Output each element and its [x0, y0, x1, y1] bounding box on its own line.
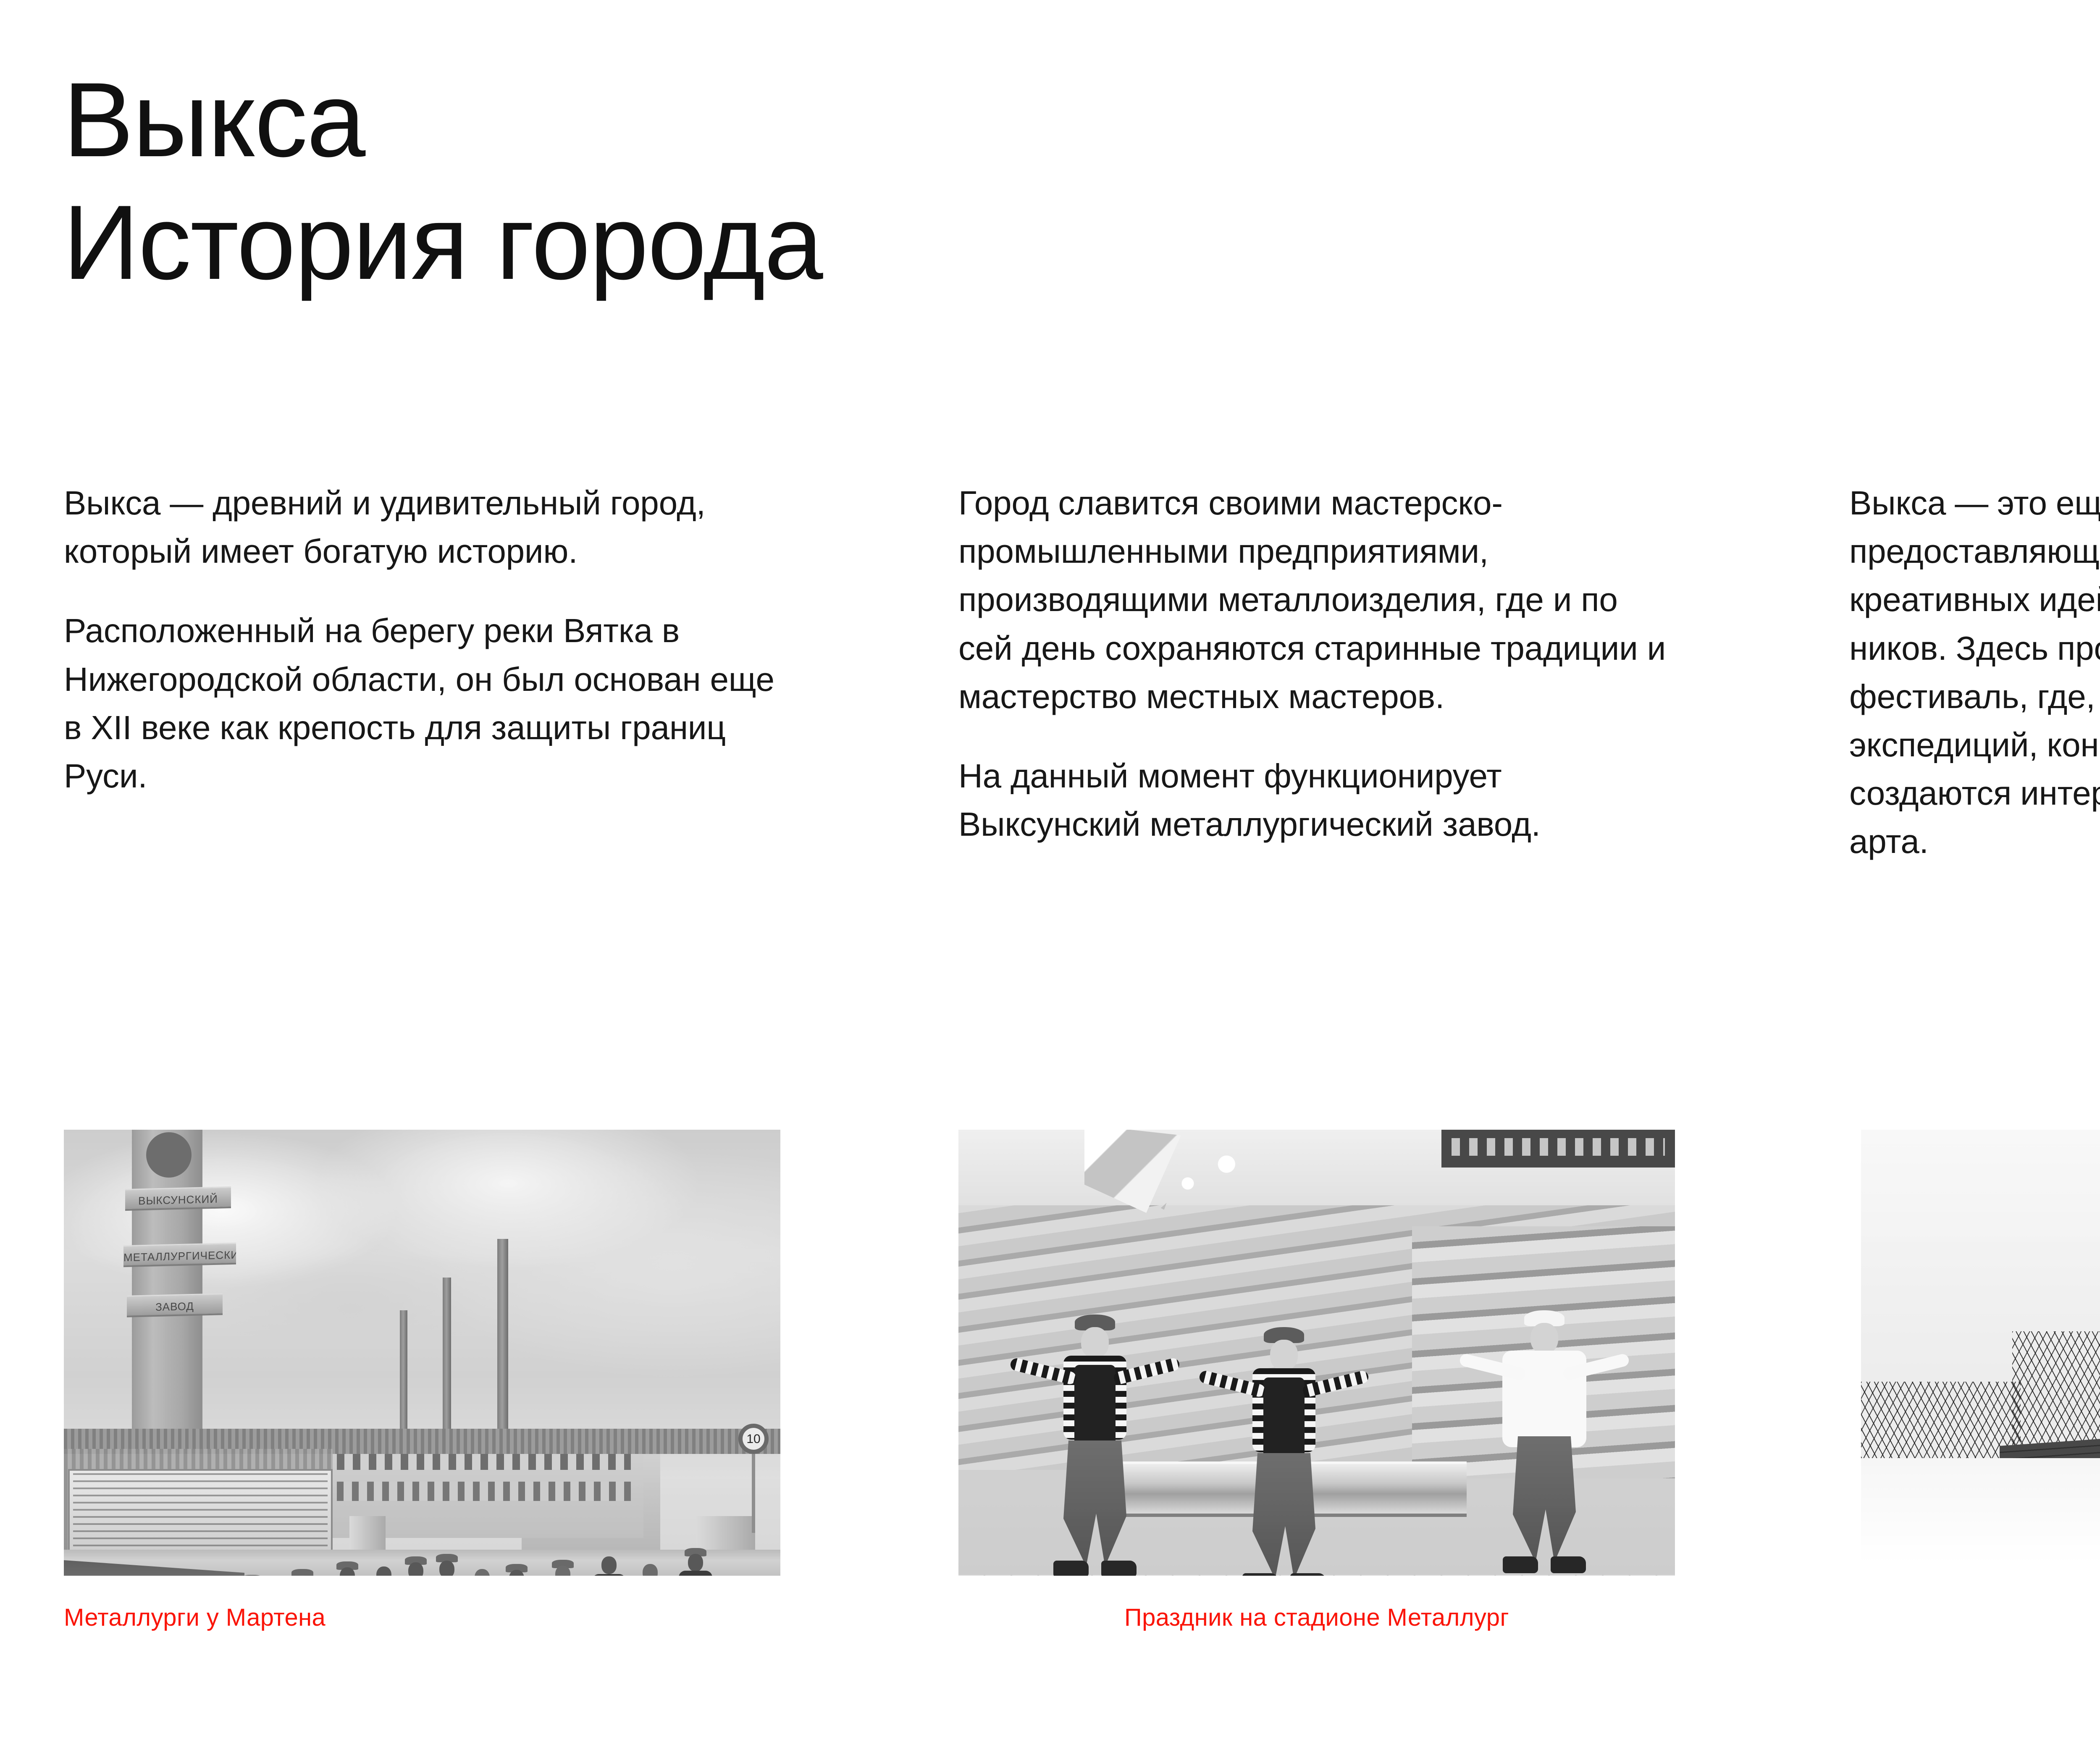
- paragraph: Расположенный на берегу реки Вятка в Ниж…: [64, 606, 778, 800]
- worker: [327, 1561, 368, 1576]
- text-column-2: Город славится своими мастерско-промышле…: [958, 479, 1672, 848]
- paragraph: Выкса — древний и удивительный город, ко…: [64, 479, 778, 575]
- snow-ground: [1861, 1458, 2100, 1576]
- page-title: Выкса История города: [63, 59, 822, 304]
- spectators: [958, 1172, 1429, 1457]
- photo-row: ВЫКСУНСКИЙ МЕТАЛЛУРГИЧЕСКИЙ ЗАВОД 10: [0, 1130, 2100, 1579]
- text-columns: Выкса — древний и удивительный город, ко…: [0, 479, 2100, 1046]
- figure-metallurgists: ВЫКСУНСКИЙ МЕТАЛЛУРГИЧЕСКИЙ ЗАВОД 10: [64, 1130, 780, 1576]
- worker: [588, 1555, 630, 1576]
- paragraph: Город славится своими мастерско-промышле…: [958, 479, 1672, 721]
- title-line-city: Выкса: [63, 59, 822, 181]
- text-column-1: Выкса — древний и удивительный город, ко…: [64, 479, 778, 800]
- figure-caption: Металлурги у Мартена: [64, 1604, 780, 1631]
- title-line-subtitle: История города: [63, 181, 822, 304]
- photo-old-stadium-building: photo.myvyksa.com: [1861, 1130, 2100, 1576]
- worker: [630, 1562, 670, 1576]
- banner-slogan: [1441, 1130, 1675, 1168]
- text-column-3: Выкса — это еще и современный город, пре…: [1849, 479, 2100, 866]
- workers-group: [64, 1130, 780, 1576]
- photo-stadium-festival: [958, 1130, 1675, 1576]
- figure-caption: Старое здание стадиона Металлург: [1861, 1604, 2100, 1631]
- figure-stadium-festival: Праздник на стадионе Металлург: [958, 1130, 1675, 1576]
- photo-metallurgists: ВЫКСУНСКИЙ МЕТАЛЛУРГИЧЕСКИЙ ЗАВОД 10: [64, 1130, 780, 1576]
- worker: [232, 1575, 272, 1576]
- figure-caption: Праздник на стадионе Металлург: [958, 1604, 1675, 1631]
- worker: [495, 1564, 538, 1576]
- worker: [282, 1569, 323, 1576]
- worker: [541, 1560, 585, 1576]
- figure-old-stadium-building: photo.myvyksa.com Старое здание стадиона…: [1861, 1130, 2100, 1576]
- worker: [674, 1548, 717, 1576]
- paragraph: На данный момент функционирует Выксунски…: [958, 752, 1672, 848]
- paragraph: Выкса — это еще и современный город, пре…: [1849, 479, 2100, 866]
